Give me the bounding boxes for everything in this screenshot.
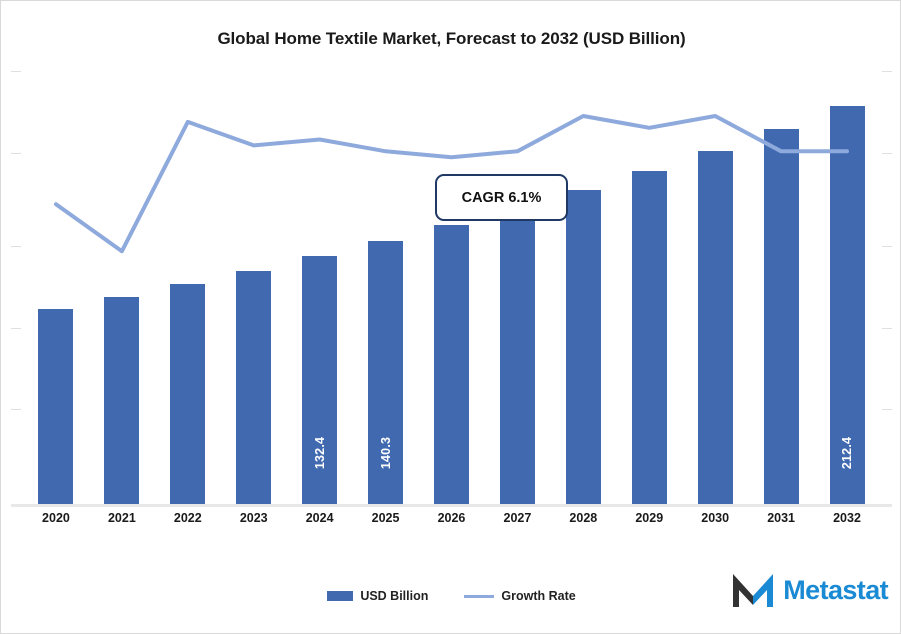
x-axis-label-2030: 2030 — [682, 511, 748, 525]
x-axis-labels: 2020202120222023202420252026202720282029… — [1, 511, 901, 533]
metastat-m-logo-icon — [729, 569, 777, 611]
x-axis-label-2028: 2028 — [550, 511, 616, 525]
cagr-annotation-badge: CAGR 6.1% — [435, 174, 568, 221]
x-axis-label-2031: 2031 — [748, 511, 814, 525]
x-axis-label-2025: 2025 — [353, 511, 419, 525]
bar-value-labels: 132.4140.3212.4 — [1, 63, 901, 506]
brand-name: Metastat — [783, 575, 888, 606]
x-axis-label-2032: 2032 — [814, 511, 880, 525]
x-axis-label-2022: 2022 — [155, 511, 221, 525]
plot-area: 132.4140.3212.4 CAGR 6.1% — [1, 63, 901, 506]
bar-value-label-2024: 132.4 — [313, 423, 327, 483]
chart-container: Global Home Textile Market, Forecast to … — [0, 0, 901, 634]
legend-bar-swatch-icon — [327, 591, 353, 601]
x-axis-label-2020: 2020 — [23, 511, 89, 525]
legend-label-usd-billion: USD Billion — [360, 589, 428, 603]
x-axis-label-2021: 2021 — [89, 511, 155, 525]
bar-value-label-2025: 140.3 — [379, 423, 393, 483]
legend-item-growth-rate[interactable]: Growth Rate — [464, 589, 575, 603]
legend-label-growth-rate: Growth Rate — [501, 589, 575, 603]
metastat-logo: Metastat — [729, 569, 888, 611]
chart-title: Global Home Textile Market, Forecast to … — [1, 29, 901, 49]
legend-line-swatch-icon — [464, 595, 494, 598]
x-axis-label-2026: 2026 — [419, 511, 485, 525]
x-axis-label-2027: 2027 — [484, 511, 550, 525]
x-axis-label-2029: 2029 — [616, 511, 682, 525]
x-axis-label-2024: 2024 — [287, 511, 353, 525]
legend-item-usd-billion[interactable]: USD Billion — [327, 589, 428, 603]
x-axis-label-2023: 2023 — [221, 511, 287, 525]
bar-value-label-2032: 212.4 — [840, 423, 854, 483]
